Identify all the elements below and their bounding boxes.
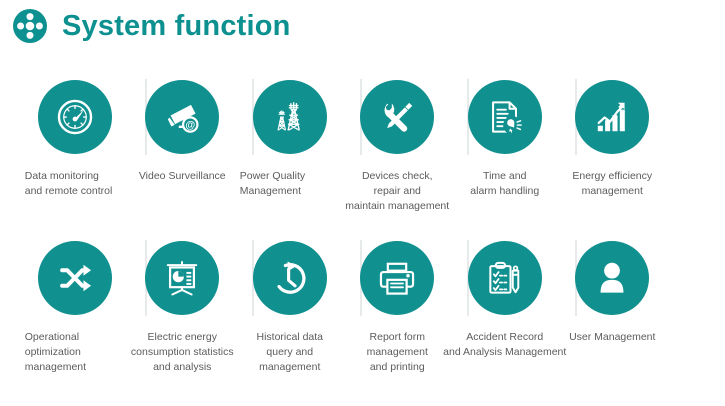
power-tower-icon [253, 80, 327, 154]
bar-chart-arrow-icon [575, 80, 649, 154]
function-item-energy-consumption[interactable]: Electric energy consumption statistics a… [129, 227, 237, 375]
function-item-historical-data[interactable]: Historical data query and management [236, 227, 344, 375]
function-item-label: Power Quality Management [240, 169, 340, 199]
presentation-chart-icon [145, 241, 219, 315]
printer-icon [360, 241, 434, 315]
page-header: System function [10, 6, 291, 46]
system-function-page: System function [0, 0, 725, 406]
clock-history-icon [253, 241, 327, 315]
function-item-alarm-handling[interactable]: Time and alarm handling [451, 66, 559, 214]
wrench-screwdriver-icon [360, 80, 434, 154]
gauge-meter-icon [38, 80, 112, 154]
user-person-icon [575, 241, 649, 315]
svg-text:@: @ [186, 120, 196, 131]
function-item-energy-efficiency[interactable]: Energy efficiency management [559, 66, 667, 214]
function-item-data-monitoring[interactable]: Data monitoring and remote control [21, 66, 129, 214]
document-alarm-icon [468, 80, 542, 154]
function-item-user-management[interactable]: User Management [559, 227, 667, 375]
function-grid: Data monitoring and remote control @ [0, 66, 725, 374]
function-row-1: Data monitoring and remote control @ [0, 66, 725, 214]
hub-network-icon [10, 6, 50, 46]
shuffle-arrows-icon [38, 241, 112, 315]
function-item-label: Energy efficiency management [548, 169, 676, 199]
function-item-label: Video Surveillance [118, 169, 246, 184]
function-row-2: Operational optimization management [0, 227, 725, 375]
function-item-operational-optimization[interactable]: Operational optimization management [21, 227, 129, 375]
function-item-label: Data monitoring and remote control [25, 169, 125, 199]
page-title: System function [62, 12, 291, 41]
cctv-camera-at-icon: @ [145, 80, 219, 154]
clipboard-pen-icon [468, 241, 542, 315]
function-item-label: User Management [548, 330, 676, 345]
function-item-label: Operational optimization management [25, 330, 125, 375]
function-item-devices-check[interactable]: Devices check, repair and maintain manag… [344, 66, 452, 214]
function-item-power-quality[interactable]: Power Quality Management [236, 66, 344, 214]
function-item-accident-record[interactable]: Accident Record and Analysis Management [451, 227, 559, 375]
function-item-video-surveillance[interactable]: @ Video Surveillance [129, 66, 237, 214]
